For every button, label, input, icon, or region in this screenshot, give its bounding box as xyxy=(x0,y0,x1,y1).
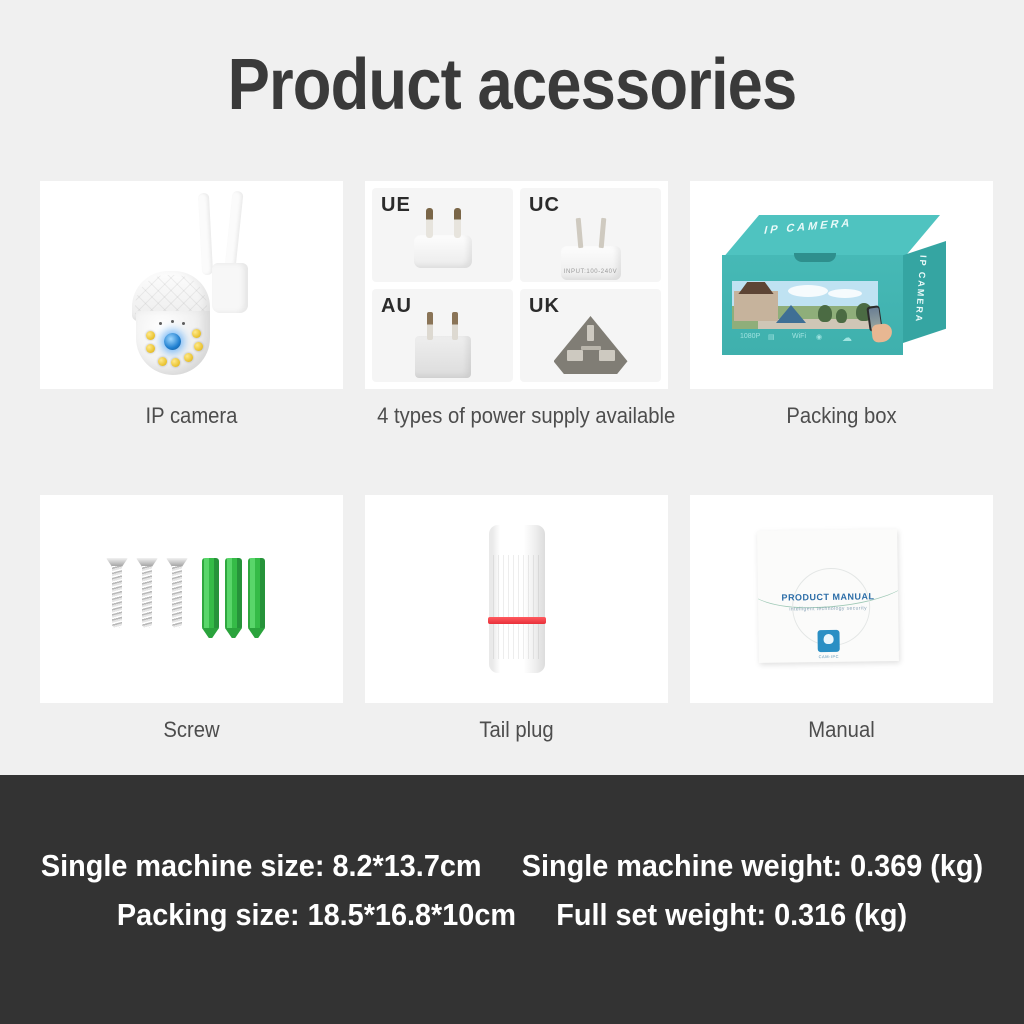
camera-mount-arm xyxy=(212,263,248,313)
wall-anchor-icon xyxy=(225,558,242,630)
palm-shape xyxy=(871,323,893,343)
plug-cell-au[interactable]: AU xyxy=(372,289,513,383)
manual-logo-icon xyxy=(817,630,839,652)
eu-plug-pin xyxy=(426,208,433,238)
manual-title: PRODUCT MANUAL xyxy=(758,591,898,603)
manual-subtitle: intelligent technology security xyxy=(758,605,898,613)
camera-lens-icon xyxy=(164,333,181,350)
house-roof-icon xyxy=(734,282,778,294)
feature-icon-1: 1080P xyxy=(740,333,760,340)
au-plug-icon xyxy=(415,336,471,378)
uk-plug-pin-left xyxy=(567,350,583,361)
tail-plug-panel xyxy=(365,495,668,703)
product-accessories-page: Product acessories xyxy=(0,0,1024,1024)
specs-line-2: Packing size: 18.5*16.8*10cm Full set we… xyxy=(36,897,988,933)
spec-single-machine-weight: Single machine weight: 0.369 (kg) xyxy=(522,848,983,883)
tree-icon xyxy=(836,309,847,323)
led-icon xyxy=(146,331,155,340)
uk-plug-pin-right xyxy=(599,350,615,361)
caption-packing-box: Packing box xyxy=(702,403,981,429)
antenna-left-icon xyxy=(198,193,213,275)
box-handle xyxy=(794,253,836,262)
tail-plug-body xyxy=(489,525,545,673)
hand-with-phone-icon xyxy=(868,306,894,346)
feature-icon-5: ☁ xyxy=(842,333,852,344)
power-plugs-image: UE UC INPUT:100-240V xyxy=(372,188,661,382)
accessories-grid: IP camera UE UC xyxy=(40,181,984,743)
plug-label-uc: UC xyxy=(529,194,560,217)
plug-label-au: AU xyxy=(381,295,412,318)
led-icon xyxy=(194,342,203,351)
ip-camera-panel xyxy=(40,181,343,389)
feature-icon-4: ◉ xyxy=(816,333,822,341)
accessory-item-ip-camera[interactable]: IP camera xyxy=(40,181,343,429)
accessories-row-1: IP camera UE UC xyxy=(40,181,984,429)
packing-box-panel: IP CAMERA IP CAMERA xyxy=(690,181,993,389)
spec-single-machine-size: Single machine size: 8.2*13.7cm xyxy=(41,848,482,883)
box-feature-icons: 1080P ▤ WiFi ◉ ☁ xyxy=(740,333,870,345)
plug-cell-uk[interactable]: UK xyxy=(520,289,661,383)
au-plug-pin xyxy=(427,312,433,340)
accessory-item-manual[interactable]: PRODUCT MANUAL intelligent technology se… xyxy=(690,495,993,743)
screw-panel xyxy=(40,495,343,703)
uk-plug-pin-top xyxy=(587,325,594,341)
led-icon xyxy=(171,358,180,367)
accessory-item-screw[interactable]: Screw xyxy=(40,495,343,743)
eu-plug-pin xyxy=(454,208,461,238)
led-icon xyxy=(158,357,167,366)
screws-and-anchors-image xyxy=(40,495,343,703)
accessories-row-2: Screw Tail plug xyxy=(40,495,984,743)
accessory-item-tail-plug[interactable]: Tail plug xyxy=(365,495,668,743)
plug-label-ue: UE xyxy=(381,194,411,217)
box-photo-panel xyxy=(732,281,878,329)
led-icon xyxy=(192,329,201,338)
spec-packing-size: Packing size: 18.5*16.8*10cm xyxy=(117,897,516,932)
plug-cell-ue[interactable]: UE xyxy=(372,188,513,282)
us-plug-pin xyxy=(599,217,607,247)
us-plug-body-text: INPUT:100-240V xyxy=(564,269,617,275)
specs-line-1: Single machine size: 8.2*13.7cm Single m… xyxy=(36,848,988,884)
eu-plug-icon xyxy=(414,235,472,268)
uk-plug-icon xyxy=(554,316,628,374)
manual-brand: CAM-IPC xyxy=(759,653,899,660)
plug-label-uk: UK xyxy=(529,295,560,318)
spec-full-set-weight: Full set weight: 0.316 (kg) xyxy=(556,897,907,932)
feature-icon-3: WiFi xyxy=(792,333,806,340)
plug-cell-uc[interactable]: UC INPUT:100-240V xyxy=(520,188,661,282)
tail-plug-image xyxy=(365,495,668,703)
manual-cover: PRODUCT MANUAL intelligent technology se… xyxy=(757,529,899,663)
au-plug-pin xyxy=(452,312,458,340)
wall-anchor-icon xyxy=(202,558,219,630)
sensor-dot-icon xyxy=(159,322,162,325)
cloud-icon xyxy=(788,285,828,297)
screw-shaft xyxy=(172,566,182,628)
led-icon xyxy=(146,344,155,353)
caption-screw: Screw xyxy=(52,717,331,743)
manual-booklet-image: PRODUCT MANUAL intelligent technology se… xyxy=(690,495,993,703)
caption-tail-plug: Tail plug xyxy=(377,717,656,743)
accessory-item-power-supply[interactable]: UE UC INPUT:100-240V xyxy=(365,181,668,429)
tail-plug-ribs xyxy=(493,555,541,659)
house-icon xyxy=(734,291,778,321)
screw-shaft xyxy=(112,566,122,628)
ip-camera-image xyxy=(40,181,343,389)
caption-power-supply: 4 types of power supply available xyxy=(377,403,656,429)
manual-panel: PRODUCT MANUAL intelligent technology se… xyxy=(690,495,993,703)
caption-manual: Manual xyxy=(702,717,981,743)
house-secondary-icon xyxy=(776,303,806,323)
cloud-icon xyxy=(828,289,862,298)
page-title: Product acessories xyxy=(61,44,962,126)
tree-icon xyxy=(818,305,832,322)
accessory-item-packing-box[interactable]: IP CAMERA IP CAMERA xyxy=(690,181,993,429)
screw-shaft xyxy=(142,566,152,628)
packing-box-image: IP CAMERA IP CAMERA xyxy=(690,181,993,389)
wall-anchor-icon xyxy=(248,558,265,630)
sensor-dot-icon xyxy=(171,320,174,323)
sensor-dot-icon xyxy=(182,322,185,325)
led-icon xyxy=(184,353,193,362)
power-supply-panel: UE UC INPUT:100-240V xyxy=(365,181,668,389)
us-plug-pin xyxy=(576,217,584,247)
specs-banner: Single machine size: 8.2*13.7cm Single m… xyxy=(0,775,1024,1024)
caption-ip-camera: IP camera xyxy=(52,403,331,429)
uk-plug-label-strip xyxy=(581,346,601,350)
feature-icon-2: ▤ xyxy=(768,333,775,341)
